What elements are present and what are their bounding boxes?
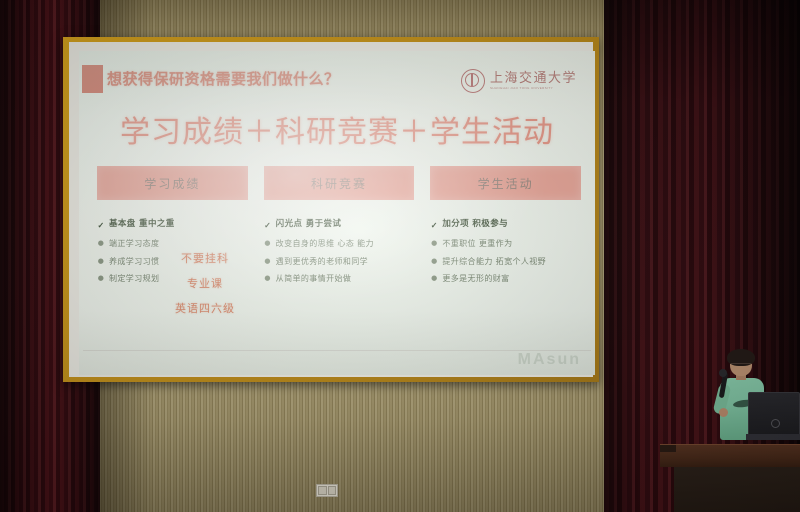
list-item-text: 养成学习习惯 — [109, 257, 159, 266]
list-item-text: 遇到更优秀的老师和同学 — [276, 257, 368, 266]
list-item-text: 不重职位 更重作为 — [442, 239, 512, 248]
column-body-activities: ✓ 加分项 积极参与 ● 不重职位 更重作为 ● 提升综合能力 拓宽个人视野 — [430, 220, 581, 283]
column-header-activities: 学生活动 — [430, 166, 581, 200]
list-item: ● 遇到更优秀的老师和同学 — [264, 257, 415, 266]
laptop-screen — [748, 392, 800, 436]
bullet-dot-icon: ● — [264, 257, 272, 266]
title-accent-block — [82, 65, 103, 93]
projection-screen-mat: 想获得保研资格需要我们做什么？ 上海交通大学 SHANGHAI JIAO TON… — [69, 42, 593, 377]
light-switch-plate[interactable] — [316, 484, 338, 497]
check-icon: ✓ — [97, 220, 105, 230]
slide-watermark: MAsun — [518, 351, 581, 369]
lecture-hall-photo: 想获得保研资格需要我们做什么？ 上海交通大学 SHANGHAI JIAO TON… — [0, 0, 800, 512]
bullet-dot-icon: ● — [97, 274, 105, 283]
slide-column-research: 科研竞赛 ✓ 闪光点 勇于尝试 ● 改变自身的思维 心态 能力 — [264, 166, 415, 291]
podium — [660, 444, 800, 512]
university-name-english: SHANGHAI JIAO TONG UNIVERSITY — [490, 87, 577, 90]
projection-screen-surface: 想获得保研资格需要我们做什么？ 上海交通大学 SHANGHAI JIAO TON… — [79, 51, 595, 375]
column-lead-text: 闪光点 勇于尝试 — [276, 220, 342, 230]
university-seal-icon — [461, 69, 485, 93]
slide-column-activities: 学生活动 ✓ 加分项 积极参与 ● 不重职位 更重作为 — [430, 166, 581, 291]
list-item-text: 端正学习态度 — [109, 239, 159, 248]
presentation-slide: 想获得保研资格需要我们做什么？ 上海交通大学 SHANGHAI JIAO TON… — [79, 51, 595, 375]
university-logo: 上海交通大学 SHANGHAI JIAO TONG UNIVERSITY — [461, 69, 577, 93]
list-item: ● 改变自身的思维 心态 能力 — [264, 239, 415, 248]
slide-headline: 学习成绩＋科研竞赛＋学生活动 — [79, 107, 595, 151]
column-body-academics: ✓ 基本盘 重中之重 ● 端正学习态度 ● 养成学习习惯 — [97, 220, 248, 283]
column-lead-text: 基本盘 重中之重 — [109, 220, 175, 230]
list-item-text: 提升综合能力 拓宽个人视野 — [442, 257, 546, 266]
check-icon: ✓ — [264, 220, 272, 230]
laptop-logo-icon — [771, 419, 780, 428]
list-item-text: 改变自身的思维 心态 能力 — [276, 239, 374, 248]
glasses-icon — [731, 363, 751, 368]
university-logo-text: 上海交通大学 SHANGHAI JIAO TONG UNIVERSITY — [490, 72, 577, 90]
laptop[interactable] — [748, 392, 800, 444]
slide-columns: 学习成绩 ✓ 基本盘 重中之重 ● 端正学习态度 — [97, 166, 581, 291]
presenter-left-hand — [719, 408, 728, 417]
bullet-dot-icon: ● — [430, 239, 438, 248]
podium-notch — [660, 445, 676, 452]
column-header-label: 学习成绩 — [144, 175, 200, 192]
list-item-text: 从简单的事情开始做 — [276, 274, 352, 283]
university-name-chinese: 上海交通大学 — [490, 72, 577, 85]
column-body-research: ✓ 闪光点 勇于尝试 ● 改变自身的思维 心态 能力 ● 遇到更优秀的老师和同学 — [264, 220, 415, 283]
list-item: ● 更多是无形的财富 — [430, 274, 581, 283]
emphasis-group: 不要挂科 专业课 英语四六级 — [175, 250, 235, 316]
bullet-dot-icon: ● — [97, 239, 105, 248]
light-switch-right[interactable] — [328, 486, 337, 495]
bullet-dot-icon: ● — [264, 274, 272, 283]
microphone-head — [719, 369, 727, 377]
column-header-academics: 学习成绩 — [97, 166, 248, 200]
light-switch-left[interactable] — [318, 486, 327, 495]
podium-top — [660, 444, 800, 467]
podium-body — [674, 466, 800, 512]
list-item: ● 从简单的事情开始做 — [264, 274, 415, 283]
column-lead-line: ✓ 加分项 积极参与 — [430, 220, 581, 230]
column-lead-text: 加分项 积极参与 — [442, 220, 508, 230]
list-item: ● 提升综合能力 拓宽个人视野 — [430, 257, 581, 266]
emphasis-text: 英语四六级 — [175, 300, 235, 316]
bullet-dot-icon: ● — [430, 257, 438, 266]
column-header-label: 科研竞赛 — [311, 175, 367, 192]
list-item-text: 制定学习规划 — [109, 274, 159, 283]
column-lead-line: ✓ 基本盘 重中之重 — [97, 220, 248, 230]
bullet-dot-icon: ● — [264, 239, 272, 248]
slide-divider — [83, 350, 591, 351]
column-header-label: 学生活动 — [478, 175, 534, 192]
emphasis-text: 专业课 — [187, 275, 223, 291]
list-item-text: 更多是无形的财富 — [442, 274, 509, 283]
stage-curtain-right-top-shadow — [604, 0, 800, 340]
projection-screen-frame: 想获得保研资格需要我们做什么？ 上海交通大学 SHANGHAI JIAO TON… — [63, 37, 599, 382]
laptop-base — [746, 434, 800, 440]
slide-column-academics: 学习成绩 ✓ 基本盘 重中之重 ● 端正学习态度 — [97, 166, 248, 291]
column-lead-line: ✓ 闪光点 勇于尝试 — [264, 220, 415, 230]
list-item: ● 端正学习态度 — [97, 239, 248, 248]
slide-title: 想获得保研资格需要我们做什么？ — [107, 68, 340, 89]
bullet-dot-icon: ● — [430, 274, 438, 283]
check-icon: ✓ — [430, 220, 438, 230]
list-item: ● 不重职位 更重作为 — [430, 239, 581, 248]
emphasis-text: 不要挂科 — [181, 250, 229, 266]
bullet-dot-icon: ● — [97, 257, 105, 266]
column-header-research: 科研竞赛 — [264, 166, 415, 200]
